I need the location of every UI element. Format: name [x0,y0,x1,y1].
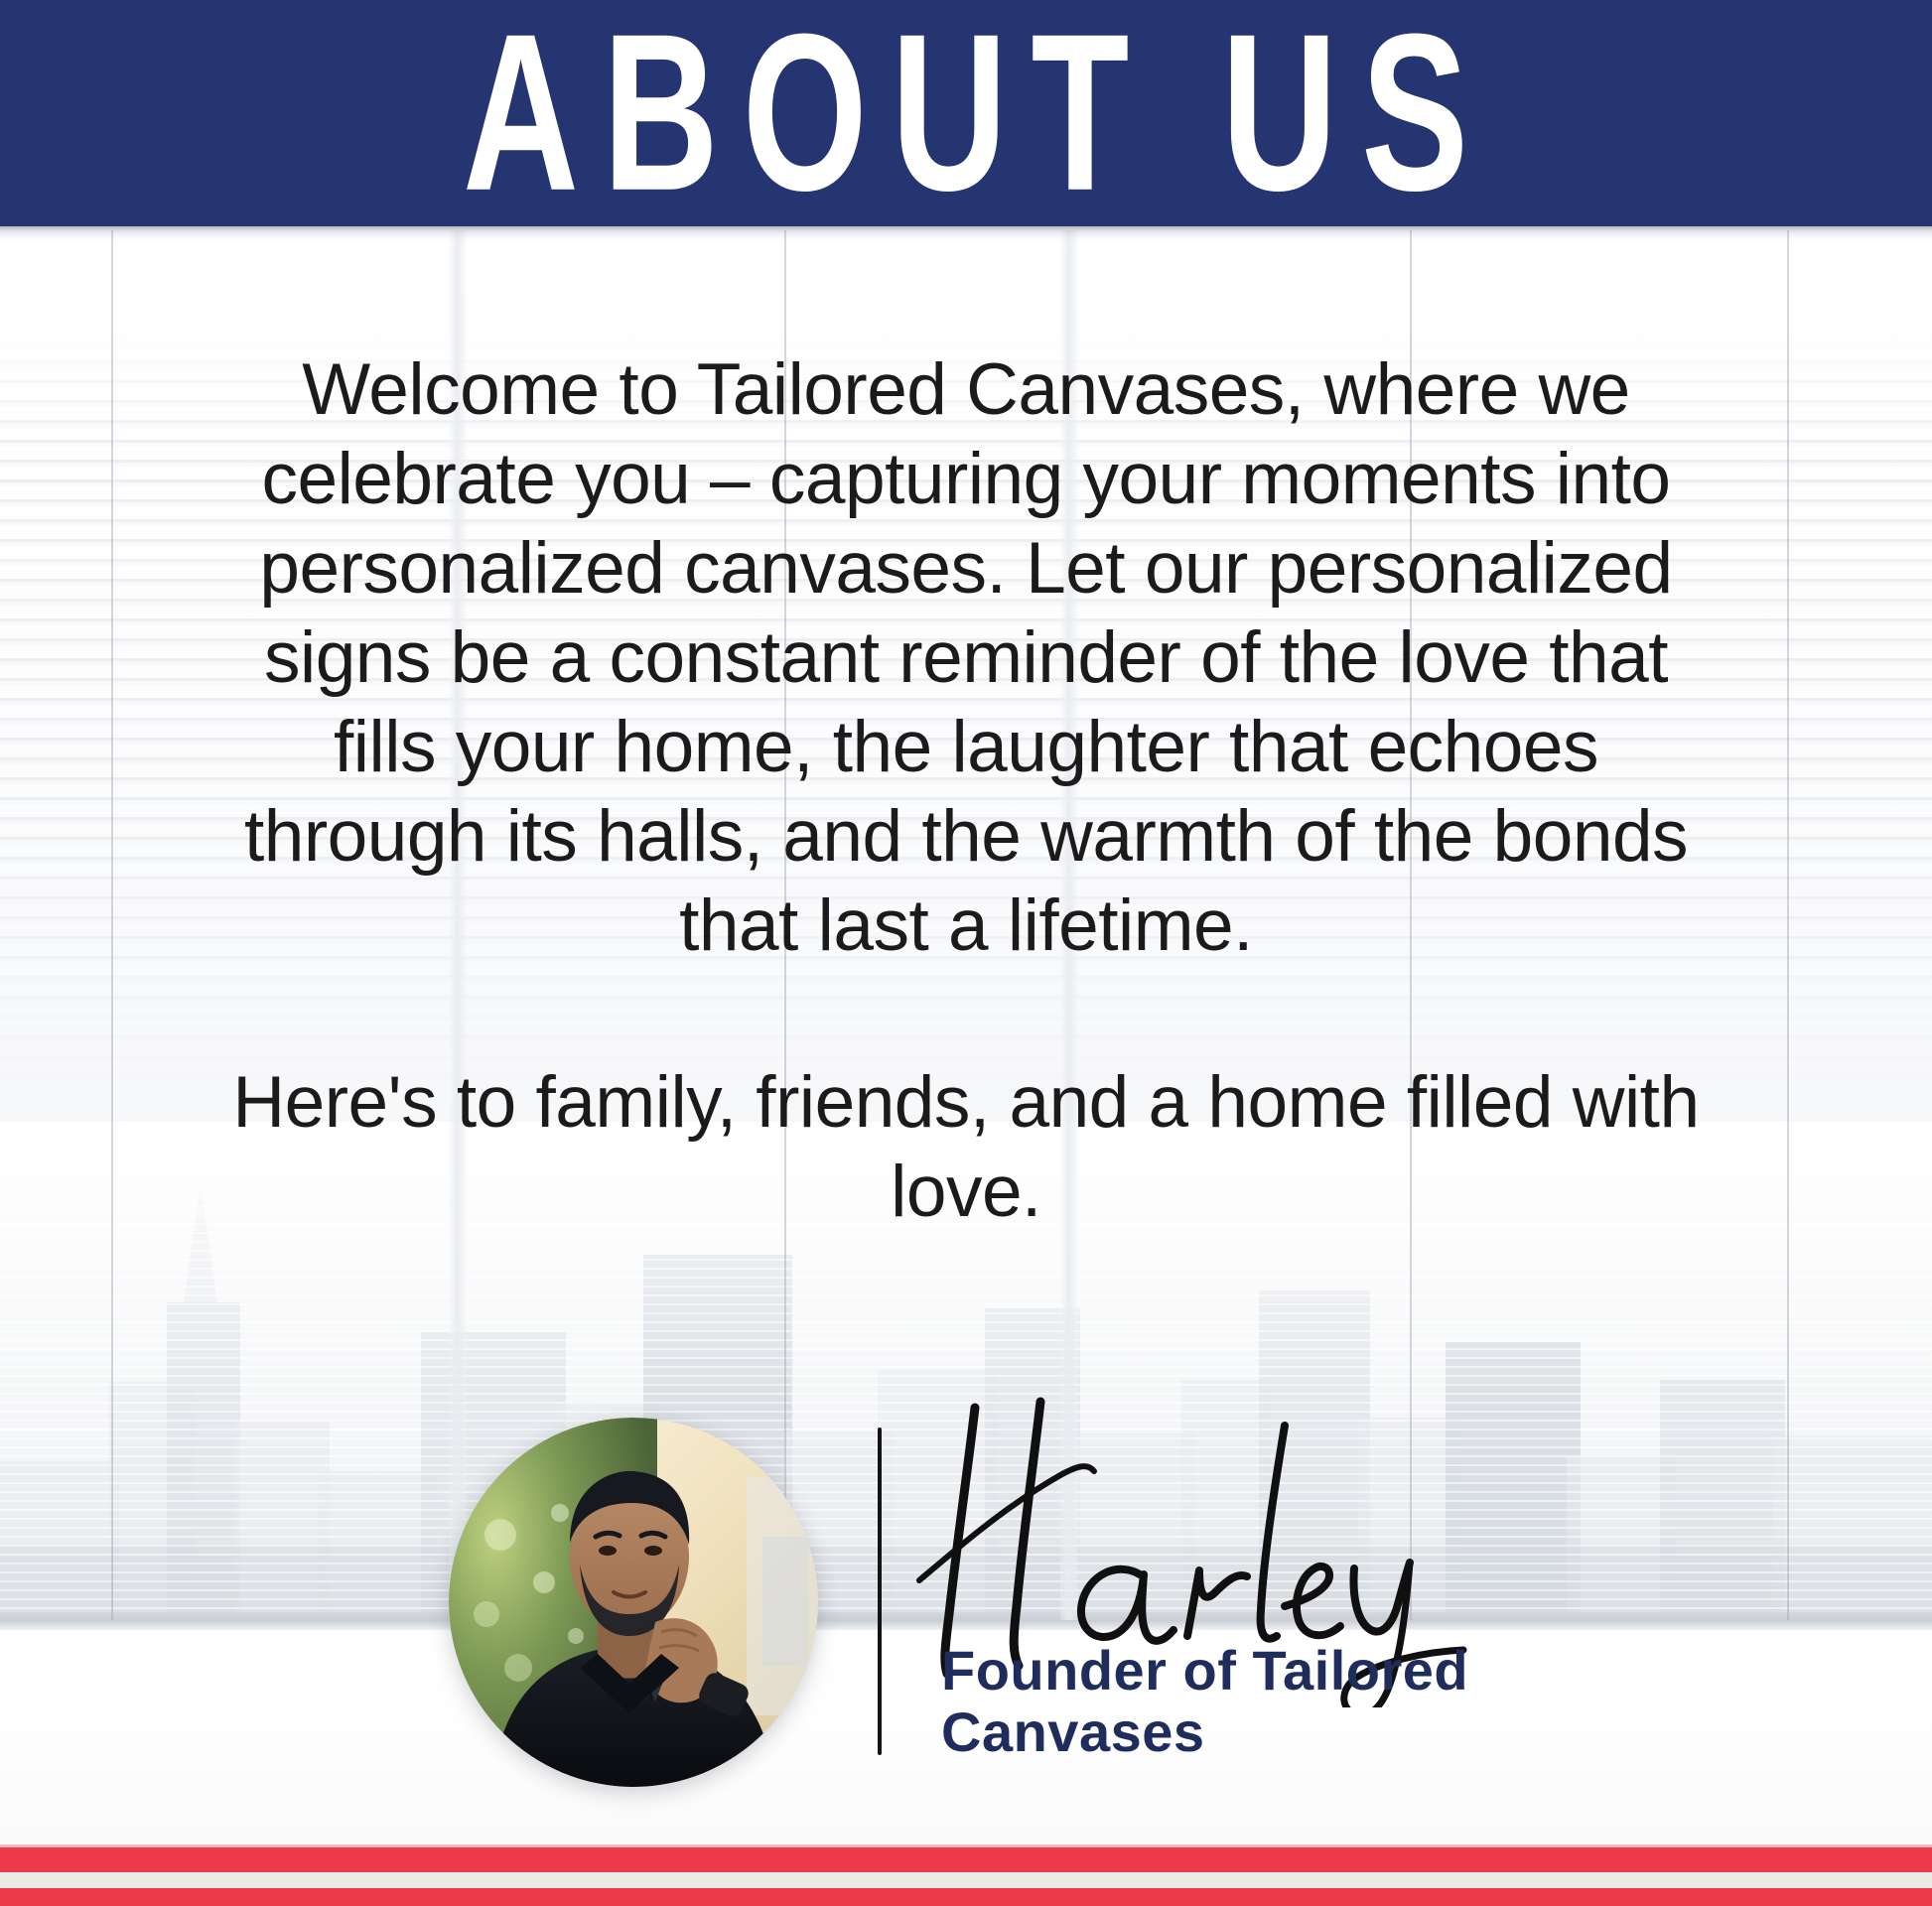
header-banner: ABOUT US [0,0,1932,226]
bottom-bar-red-bottom [0,1888,1932,1906]
avatar [449,1418,818,1787]
header-drop-shadow [0,226,1932,240]
paragraph-closing: Here's to family, friends, and a home fi… [221,1058,1711,1237]
about-us-copy: Welcome to Tailored Canvases, where we c… [221,345,1711,1237]
founder-role: Founder of Tailored Canvases [941,1640,1577,1763]
bottom-bar-red-top [0,1847,1932,1872]
signature-divider [878,1428,882,1755]
paragraph-intro: Welcome to Tailored Canvases, where we c… [221,345,1711,971]
founder-role-line-1: Founder of Tailored [941,1640,1577,1702]
paragraph-spacer [221,971,1711,1058]
about-us-poster: ABOUT US Welcome to Tailored Canvases, w… [0,0,1932,1906]
page-title: ABOUT US [440,1,1493,224]
signature-text-group: Founder of Tailored Canvases [913,1410,1608,1827]
founder-signature-block: Founder of Tailored Canvases [0,1410,1932,1827]
bottom-bar-white-gap [0,1872,1932,1888]
founder-role-line-2: Canvases [941,1702,1577,1763]
